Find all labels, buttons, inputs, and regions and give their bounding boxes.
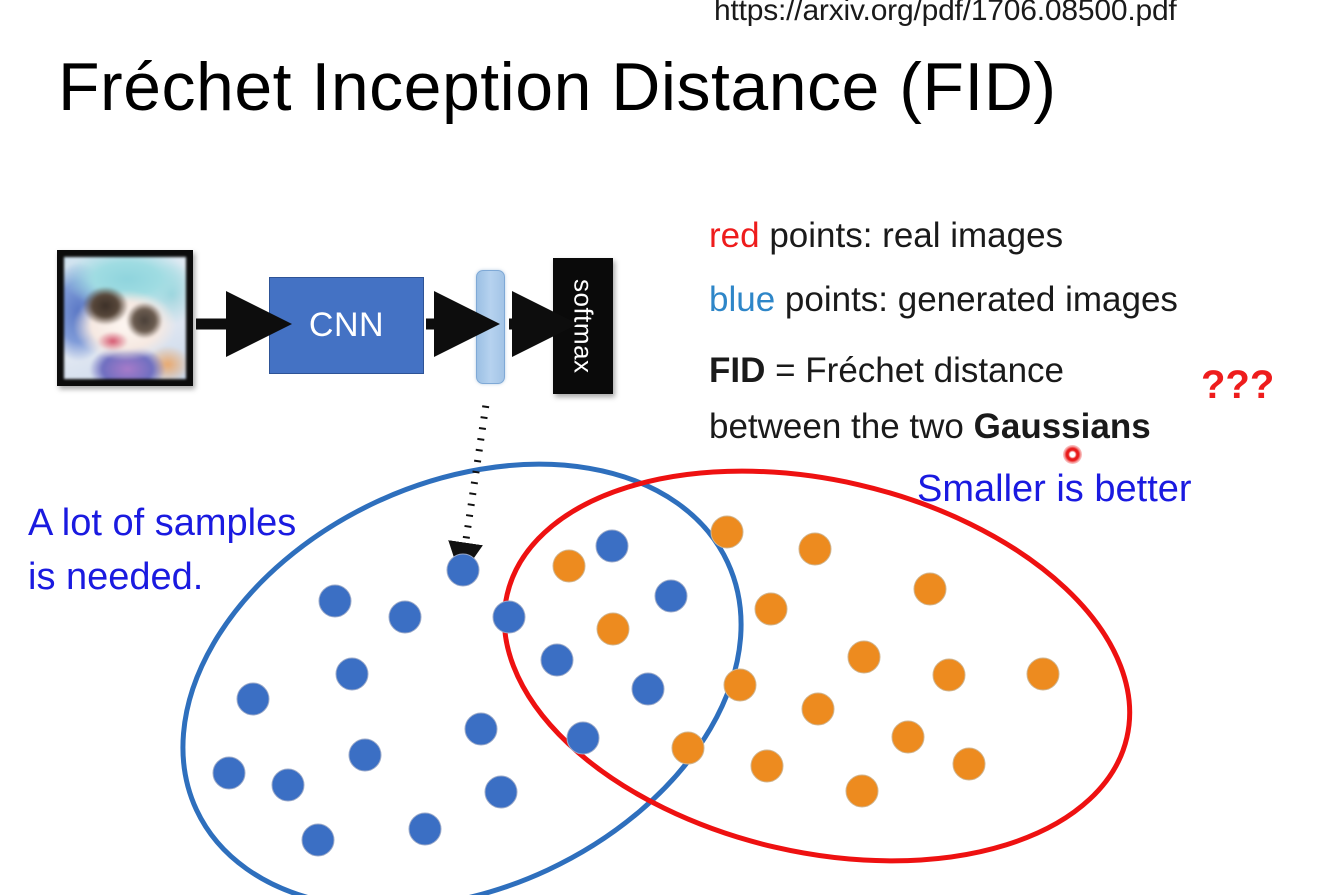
- gaussian-scatter-plot: [0, 400, 1338, 895]
- orange-point-8: [1027, 658, 1059, 690]
- orange-point-7: [933, 659, 965, 691]
- source-url-text: https://arxiv.org/pdf/1706.08500.pdf: [714, 0, 1177, 28]
- orange-point-15: [846, 775, 878, 807]
- slide-canvas: https://arxiv.org/pdf/1706.08500.pdf Fré…: [0, 0, 1338, 895]
- cnn-pipeline-diagram: CNN softmax: [0, 0, 700, 420]
- cluster-ellipses: [111, 400, 1169, 895]
- orange-point-13: [751, 750, 783, 782]
- blue-point-2: [319, 585, 351, 617]
- legend-blue-line: blue points: generated images: [709, 282, 1178, 317]
- blue-point-4: [655, 580, 687, 612]
- fid-definition-line1: FID = Fréchet distance: [709, 353, 1064, 388]
- orange-point-0: [711, 516, 743, 548]
- blue-point-3: [389, 601, 421, 633]
- scatter-points: [213, 516, 1059, 856]
- legend-blue-rest: points: generated images: [775, 280, 1178, 319]
- pipeline-arrows: [0, 0, 700, 420]
- legend-red-rest: points: real images: [760, 216, 1063, 255]
- orange-point-4: [597, 613, 629, 645]
- blue-point-14: [272, 769, 304, 801]
- blue-point-11: [567, 722, 599, 754]
- orange-point-3: [755, 593, 787, 625]
- blue-point-13: [213, 757, 245, 789]
- orange-point-2: [553, 550, 585, 582]
- blue-point-16: [302, 824, 334, 856]
- orange-point-5: [914, 573, 946, 605]
- blue-point-6: [541, 644, 573, 676]
- blue-point-17: [409, 813, 441, 845]
- orange-point-12: [672, 732, 704, 764]
- orange-point-10: [802, 693, 834, 725]
- legend-red-word: red: [709, 216, 760, 255]
- blue-point-10: [465, 713, 497, 745]
- blue-point-1: [596, 530, 628, 562]
- blue-point-8: [632, 673, 664, 705]
- orange-point-1: [799, 533, 831, 565]
- fid-abbrev: FID: [709, 351, 765, 390]
- blue-point-12: [349, 739, 381, 771]
- legend-blue-word: blue: [709, 280, 775, 319]
- blue-point-15: [485, 776, 517, 808]
- orange-point-6: [848, 641, 880, 673]
- orange-point-14: [953, 748, 985, 780]
- fid-definition-rest: = Fréchet distance: [765, 351, 1064, 390]
- blue-point-9: [237, 683, 269, 715]
- legend-red-line: red points: real images: [709, 218, 1063, 253]
- feature-to-point-arrow: [463, 400, 489, 560]
- blue-point-5: [493, 601, 525, 633]
- blue-point-0: [447, 554, 479, 586]
- orange-point-11: [892, 721, 924, 753]
- orange-point-9: [724, 669, 756, 701]
- blue-point-7: [336, 658, 368, 690]
- feature-to-point-arrow: [463, 400, 489, 560]
